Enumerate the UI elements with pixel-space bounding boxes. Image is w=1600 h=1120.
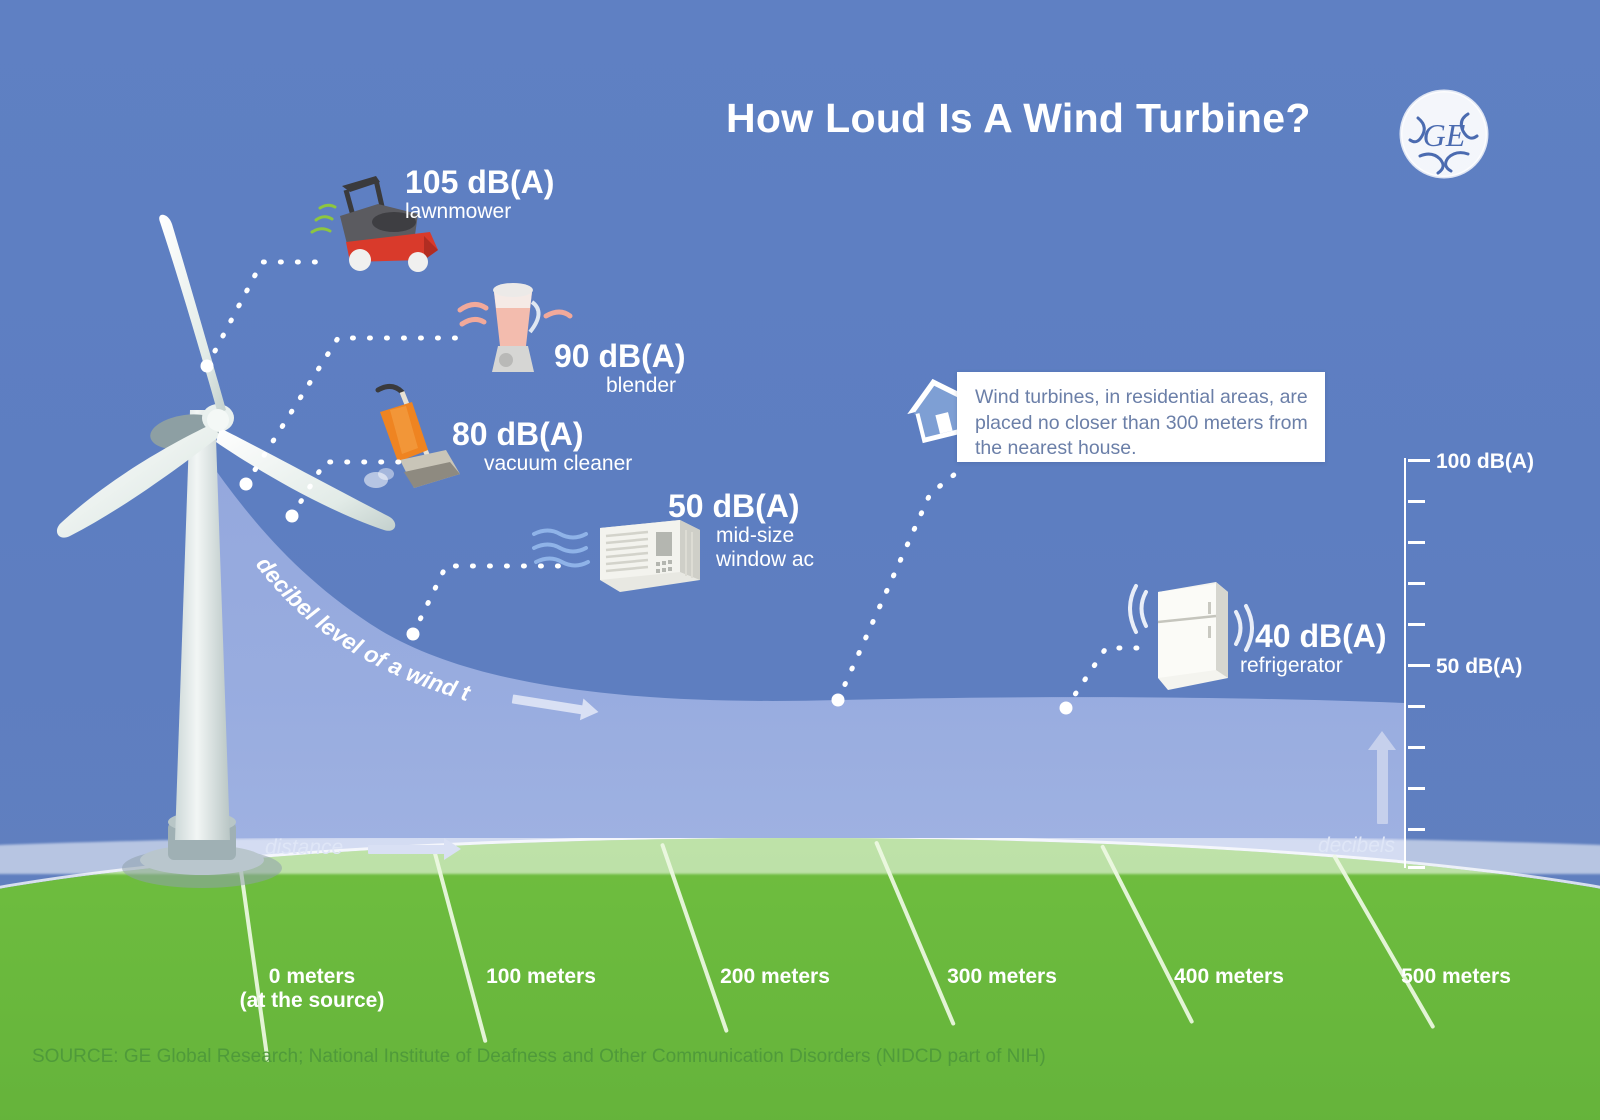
axis-label-100db: 100 dB(A) <box>1436 450 1534 474</box>
label-window-ac: 50 dB(A) mid-size window ac <box>668 490 814 573</box>
blender-db: 90 dB(A) <box>554 340 686 374</box>
node-blender <box>240 478 253 491</box>
label-refrigerator: 40 dB(A) refrigerator <box>1255 620 1387 678</box>
window-ac-name-2: window ac <box>716 548 814 573</box>
svg-text:GE: GE <box>1423 117 1466 153</box>
refrigerator-name: refrigerator <box>1240 654 1387 679</box>
infographic-canvas: How Loud Is A Wind Turbine? GE 105 dB(A)… <box>0 0 1600 1120</box>
axis-tick-100 <box>1408 459 1430 462</box>
lawnmower-name: lawnmower <box>405 200 554 225</box>
decibel-axis-line <box>1404 458 1406 868</box>
node-house <box>832 694 845 707</box>
distance-tick-100: 100 meters <box>486 965 596 989</box>
lawnmower-db: 105 dB(A) <box>405 166 554 200</box>
axis-tick-30 <box>1408 746 1425 749</box>
distance-tick-200: 200 meters <box>720 965 830 989</box>
axis-tick-50 <box>1408 664 1430 667</box>
page-title: How Loud Is A Wind Turbine? <box>726 95 1311 142</box>
distance-axis-label: distance <box>265 836 343 860</box>
decibels-arrow-icon <box>1377 748 1388 824</box>
label-blender: 90 dB(A) blender <box>554 340 686 398</box>
source-note: SOURCE: GE Global Research; National Ins… <box>32 1046 1046 1068</box>
distance-arrow-icon <box>368 845 446 854</box>
node-window-ac <box>407 628 420 641</box>
node-refrigerator <box>1060 702 1073 715</box>
wind-turbine-illustration <box>40 200 440 900</box>
window-ac-name-1: mid-size <box>716 524 814 549</box>
distance-tick-0: 0 meters (at the source) <box>240 965 385 1013</box>
axis-tick-60 <box>1408 623 1425 626</box>
distance-tick-0-label: 0 meters <box>269 965 355 988</box>
distance-tick-0-sublabel: (at the source) <box>240 989 385 1013</box>
axis-tick-0 <box>1408 866 1425 869</box>
ge-logo-icon: GE <box>1398 88 1490 180</box>
distance-tick-500: 500 meters <box>1401 965 1511 989</box>
refrigerator-icon <box>1128 570 1258 700</box>
label-lawnmower: 105 dB(A) lawnmower <box>405 166 554 224</box>
axis-tick-80 <box>1408 541 1425 544</box>
blender-name: blender <box>606 374 686 399</box>
node-lawnmower <box>201 360 214 373</box>
refrigerator-db: 40 dB(A) <box>1255 620 1387 654</box>
axis-label-50db: 50 dB(A) <box>1436 655 1522 679</box>
label-vacuum: 80 dB(A) vacuum cleaner <box>452 418 632 476</box>
node-vacuum <box>286 510 299 523</box>
axis-tick-40 <box>1408 705 1425 708</box>
axis-tick-20 <box>1408 787 1425 790</box>
vacuum-db: 80 dB(A) <box>452 418 632 452</box>
window-ac-db: 50 dB(A) <box>668 490 814 524</box>
callout-box: Wind turbines, in residential areas, are… <box>957 372 1325 462</box>
axis-tick-10 <box>1408 828 1425 831</box>
axis-tick-70 <box>1408 582 1425 585</box>
vacuum-name: vacuum cleaner <box>484 452 632 477</box>
axis-tick-90 <box>1408 500 1425 503</box>
distance-tick-300: 300 meters <box>947 965 1057 989</box>
decibels-axis-label: decibels <box>1318 834 1395 858</box>
callout-text: Wind turbines, in residential areas, are… <box>957 372 1325 462</box>
distance-tick-400: 400 meters <box>1174 965 1284 989</box>
